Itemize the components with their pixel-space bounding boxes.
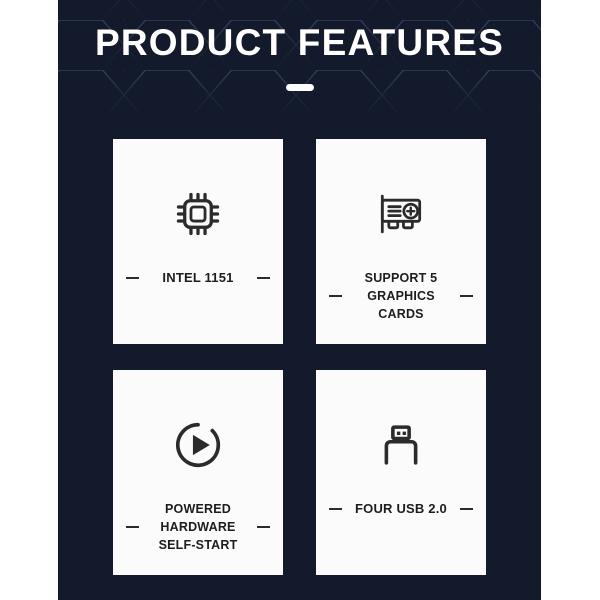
page-title: PRODUCT FEATURES <box>58 0 541 66</box>
right-dash <box>257 277 270 279</box>
cpu-chip-icon <box>166 182 230 246</box>
feature-card-intel-1151[interactable]: INTEL 1151 <box>113 139 283 344</box>
feature-card-graphics-cards[interactable]: SUPPORT 5 GRAPHICS CARDS <box>316 139 486 344</box>
feature-label: INTEL 1151 <box>139 269 257 288</box>
feature-card-hardware-self-start[interactable]: POWERED HARDWARE SELF-START <box>113 370 283 575</box>
left-dash <box>329 295 342 297</box>
card-label-row: FOUR USB 2.0 <box>316 500 486 519</box>
dark-panel: PRODUCT FEATURES <box>58 0 541 600</box>
title-divider <box>286 84 314 91</box>
usb-plug-icon <box>369 413 433 477</box>
power-play-icon <box>166 413 230 477</box>
card-label-row: INTEL 1151 <box>113 269 283 288</box>
card-label-row: POWERED HARDWARE SELF-START <box>113 500 283 554</box>
left-dash <box>329 508 342 510</box>
right-dash <box>460 295 473 297</box>
feature-label: POWERED HARDWARE SELF-START <box>139 500 257 554</box>
left-dash <box>126 526 139 528</box>
feature-label: FOUR USB 2.0 <box>342 500 460 519</box>
left-dash <box>126 277 139 279</box>
right-dash <box>257 526 270 528</box>
product-features-page: PRODUCT FEATURES <box>0 0 600 600</box>
feature-label: SUPPORT 5 GRAPHICS CARDS <box>342 269 460 323</box>
graphics-card-icon <box>369 182 433 246</box>
right-dash <box>460 508 473 510</box>
feature-card-four-usb[interactable]: FOUR USB 2.0 <box>316 370 486 575</box>
feature-card-grid: INTEL 1151 <box>113 139 486 575</box>
header-block: PRODUCT FEATURES <box>58 0 541 91</box>
card-label-row: SUPPORT 5 GRAPHICS CARDS <box>316 269 486 323</box>
